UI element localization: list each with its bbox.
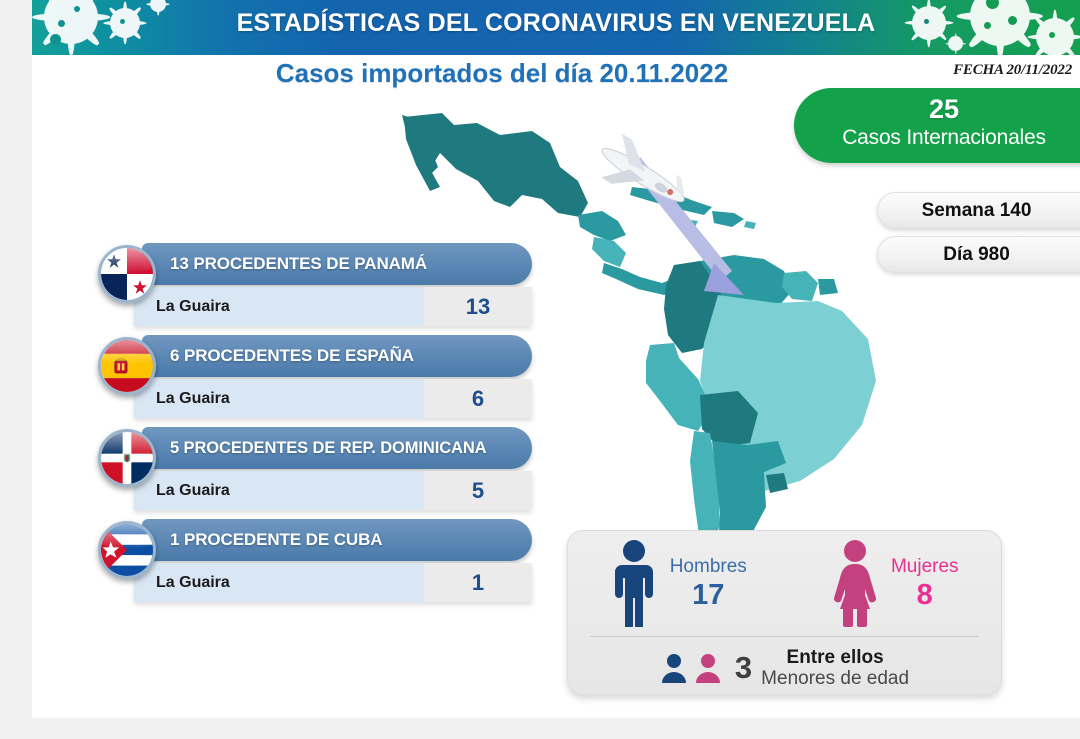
infographic-canvas: ESTADÍSTICAS DEL CORONAVIRUS EN VENEZUEL… <box>32 0 1080 718</box>
map-island-3 <box>744 221 756 229</box>
country-place: La Guaira <box>134 379 424 418</box>
country-place: La Guaira <box>134 563 424 602</box>
map-country-guyanas <box>782 271 818 301</box>
country-title: 5 PROCEDENTES DE REP. DOMINICANA <box>142 427 532 469</box>
dominican-republic-flag-icon <box>98 429 156 487</box>
country-value: 13 <box>424 287 532 326</box>
international-cases-count: 25 <box>794 93 1080 125</box>
header-banner: ESTADÍSTICAS DEL CORONAVIRUS EN VENEZUEL… <box>32 0 1080 55</box>
male-value: 17 <box>670 579 747 611</box>
fecha-label: FECHA 20/11/2022 <box>953 62 1072 79</box>
map-country-uruguay <box>766 473 788 493</box>
country-place: La Guaira <box>134 287 424 326</box>
week-pill: Semana 140 <box>877 192 1080 229</box>
country-value: 5 <box>424 471 532 510</box>
map-country-central-2 <box>592 237 626 267</box>
gender-statistics-panel: Hombres 17 Mujeres 8 <box>567 530 1002 695</box>
minors-line2: Menores de edad <box>761 668 909 689</box>
day-pill: Día 980 <box>877 236 1080 273</box>
spain-flag-icon <box>98 337 156 395</box>
country-title: 6 PROCEDENTES DE ESPAÑA <box>142 335 532 377</box>
minors-line1: Entre ellos <box>761 647 909 668</box>
country-block: 13 PROCEDENTES DE PANAMÁ La Guaira 13 <box>72 243 532 333</box>
map-country-hispaniola <box>712 211 744 227</box>
country-value: 1 <box>424 563 532 602</box>
map-country-suriname <box>818 279 838 295</box>
table-row: La Guaira 13 <box>134 287 532 326</box>
table-row: La Guaira 5 <box>134 471 532 510</box>
country-title: 13 PROCEDENTES DE PANAMÁ <box>142 243 532 285</box>
country-title: 1 PROCEDENTE DE CUBA <box>142 519 532 561</box>
country-block: 6 PROCEDENTES DE ESPAÑA La Guaira 6 <box>72 335 532 425</box>
female-value: 8 <box>891 579 959 611</box>
minors-stat: 3 Entre ellos Menores de edad <box>568 641 1001 695</box>
panama-flag-icon <box>98 245 156 303</box>
cuba-flag-icon <box>98 521 156 579</box>
international-cases-badge: 25 Casos Internacionales <box>794 88 1080 163</box>
male-stat: Hombres 17 <box>568 531 785 635</box>
female-stat: Mujeres 8 <box>785 531 1002 635</box>
minors-value: 3 <box>735 650 752 686</box>
subtitle: Casos importados del día 20.11.2022 <box>152 58 852 89</box>
page-title: ESTADÍSTICAS DEL CORONAVIRUS EN VENEZUEL… <box>32 9 1080 38</box>
international-cases-label: Casos Internacionales <box>794 125 1080 151</box>
male-label: Hombres <box>670 555 747 579</box>
table-row: La Guaira 6 <box>134 379 532 418</box>
country-place: La Guaira <box>134 471 424 510</box>
male-figure-icon <box>606 539 662 627</box>
female-label: Mujeres <box>891 555 959 579</box>
country-block: 1 PROCEDENTE DE CUBA La Guaira 1 <box>72 519 532 609</box>
female-figure-icon <box>827 539 883 627</box>
country-value: 6 <box>424 379 532 418</box>
country-block: 5 PROCEDENTES DE REP. DOMINICANA La Guai… <box>72 427 532 517</box>
divider <box>590 636 979 637</box>
map-country-central-1 <box>578 211 626 241</box>
two-persons-icon <box>660 653 726 683</box>
table-row: La Guaira 1 <box>134 563 532 602</box>
